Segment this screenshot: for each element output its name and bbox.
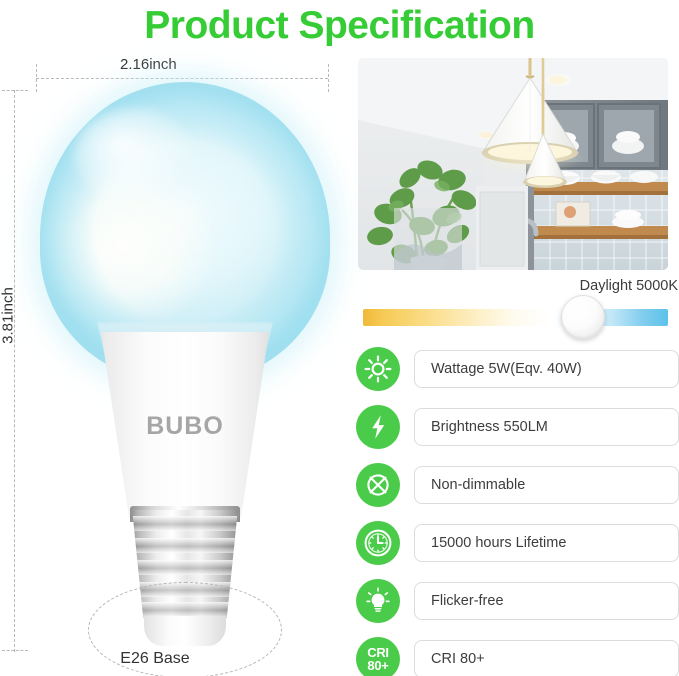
led-bulb-illustration: BUBO <box>30 82 330 672</box>
lightbulb-icon <box>356 579 400 623</box>
screw-thread <box>130 560 240 575</box>
screw-thread <box>130 538 240 553</box>
color-temperature-label: Daylight 5000K <box>490 278 678 294</box>
spec-value-flicker: Flicker-free <box>414 582 679 620</box>
bulb-globe-sheen <box>74 108 194 204</box>
spec-row-brightness: Brightness 550LM <box>356 398 679 456</box>
product-specification-page: Product Specification 2.16inch 3.81inch … <box>0 0 679 676</box>
bulb-width-label: 2.16inch <box>120 56 177 73</box>
spec-value-lifetime: 15000 hours Lifetime <box>414 524 679 562</box>
specs-panel: Daylight 5000K Wattag <box>350 52 679 676</box>
lightning-icon <box>356 405 400 449</box>
height-tick-top <box>2 90 28 91</box>
spec-row-lifetime: 15000 hours Lifetime <box>356 514 679 572</box>
sun-icon <box>356 347 400 391</box>
spec-row-wattage: Wattage 5W(Eqv. 40W) <box>356 340 679 398</box>
spec-value-dimmable: Non-dimmable <box>414 466 679 504</box>
color-temperature-slider-track[interactable] <box>363 309 668 326</box>
screw-thread <box>130 516 240 531</box>
spec-row-flicker: Flicker-free <box>356 572 679 630</box>
clock-icon <box>356 521 400 565</box>
width-dimension-line <box>36 78 328 79</box>
spec-list: Wattage 5W(Eqv. 40W) Brightness 550LM <box>356 340 679 676</box>
spec-row-cri: CRI 80+ CRI 80+ <box>356 630 679 676</box>
spec-value-cri: CRI 80+ <box>414 640 679 676</box>
cri-badge-line2: 80+ <box>367 660 389 673</box>
spec-value-wattage: Wattage 5W(Eqv. 40W) <box>414 350 679 388</box>
height-dimension-line <box>14 90 15 652</box>
color-temperature-slider-knob[interactable] <box>561 295 605 339</box>
page-title: Product Specification <box>0 0 679 50</box>
lifestyle-photo <box>358 58 668 270</box>
bulb-diagram-panel: 2.16inch 3.81inch BUBO E2 <box>0 52 345 676</box>
spec-value-brightness: Brightness 550LM <box>414 408 679 446</box>
height-tick-bottom <box>2 650 28 651</box>
cri-badge-icon: CRI 80+ <box>356 637 400 676</box>
spec-row-dimmable: Non-dimmable <box>356 456 679 514</box>
brand-logo-text: BUBO <box>85 412 285 441</box>
base-type-label: E26 Base <box>30 650 280 668</box>
no-dimmer-icon <box>356 463 400 507</box>
